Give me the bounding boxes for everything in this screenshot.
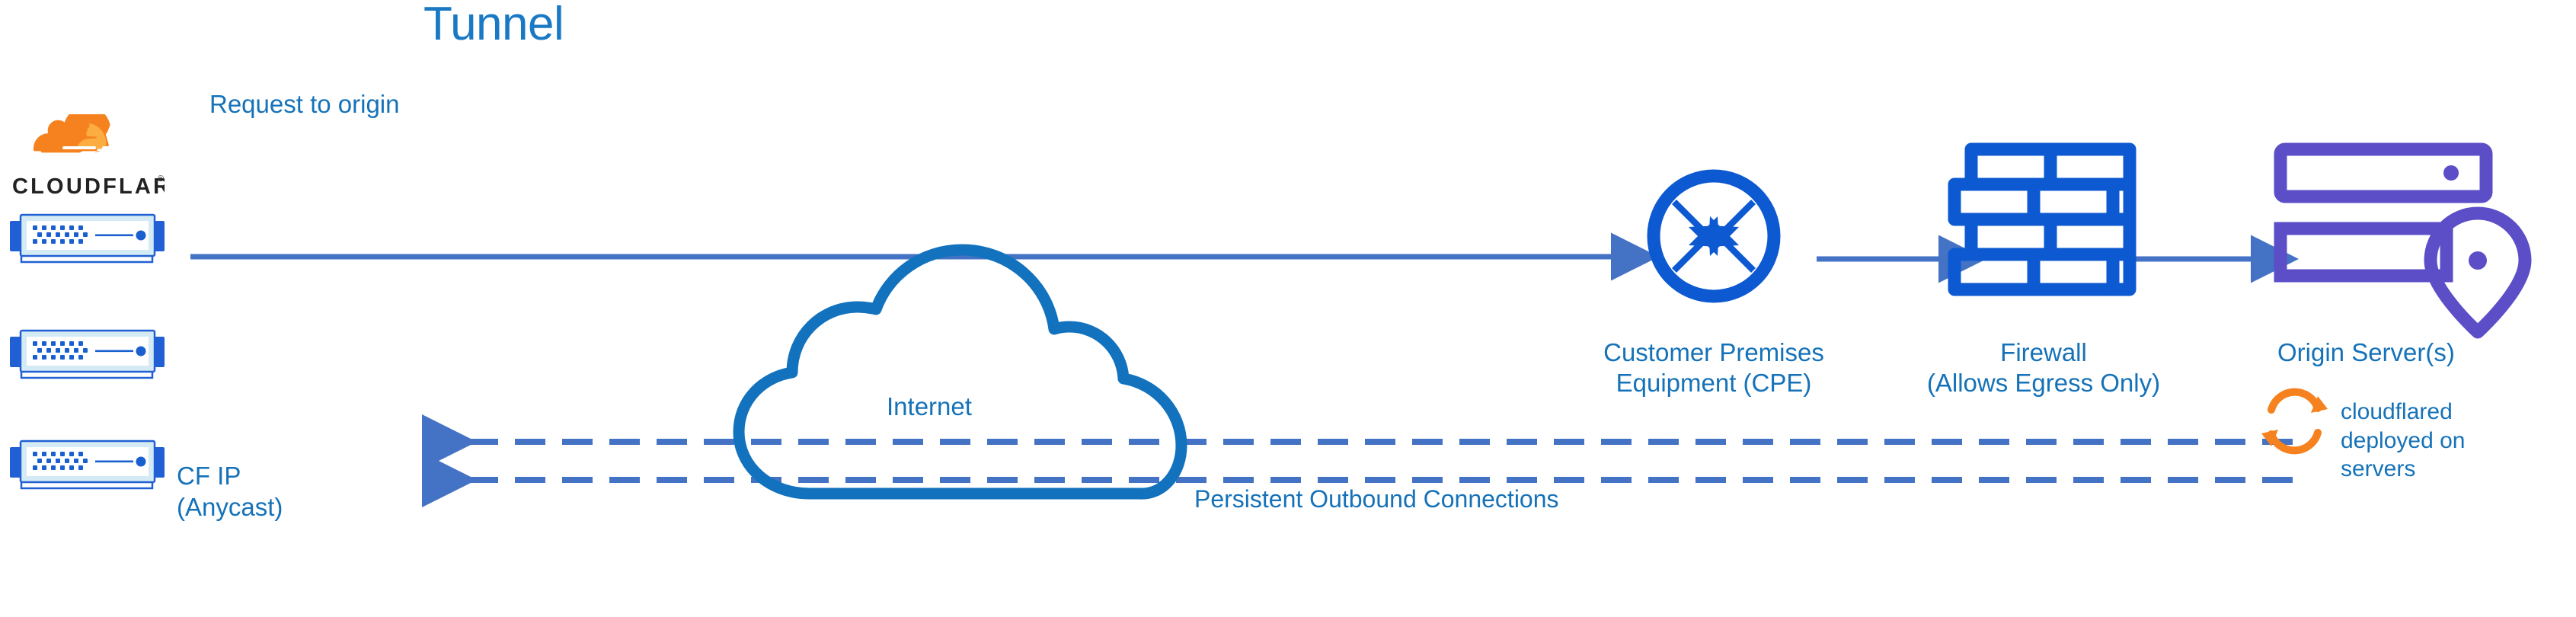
label-cf-ip: CF IP (Anycast) <box>177 460 283 523</box>
label-cloudflared-line2: deployed on <box>2341 427 2465 456</box>
server-rack-pin-icon <box>2280 149 2525 332</box>
cloud-icon <box>739 250 1181 494</box>
label-request-to-origin: Request to origin <box>209 90 399 120</box>
label-origin-servers: Origin Server(s) <box>2277 337 2455 368</box>
brick-wall-icon <box>1954 149 2130 289</box>
label-cpe: Customer Premises Equipment (CPE) <box>1554 337 1874 399</box>
label-firewall: Firewall (Allows Egress Only) <box>1887 337 2200 399</box>
label-internet: Internet <box>887 392 972 422</box>
label-cpe-line2: Equipment (CPE) <box>1554 368 1874 398</box>
label-firewall-line2: (Allows Egress Only) <box>1887 368 2200 398</box>
label-cloudflared-line3: servers <box>2341 455 2465 484</box>
label-cloudflared-line1: cloudflared <box>2341 398 2465 427</box>
label-firewall-line1: Firewall <box>1887 337 2200 368</box>
label-persistent-outbound-connections: Persistent Outbound Connections <box>1194 485 1559 514</box>
label-cpe-line1: Customer Premises <box>1554 337 1874 368</box>
four-arrows-circle-icon <box>1654 176 1774 296</box>
refresh-cycle-icon <box>2261 392 2328 451</box>
label-cf-ip-line1: CF IP <box>177 460 283 491</box>
label-cf-ip-line2: (Anycast) <box>177 491 283 523</box>
label-cloudflared: cloudflared deployed on servers <box>2341 398 2465 484</box>
